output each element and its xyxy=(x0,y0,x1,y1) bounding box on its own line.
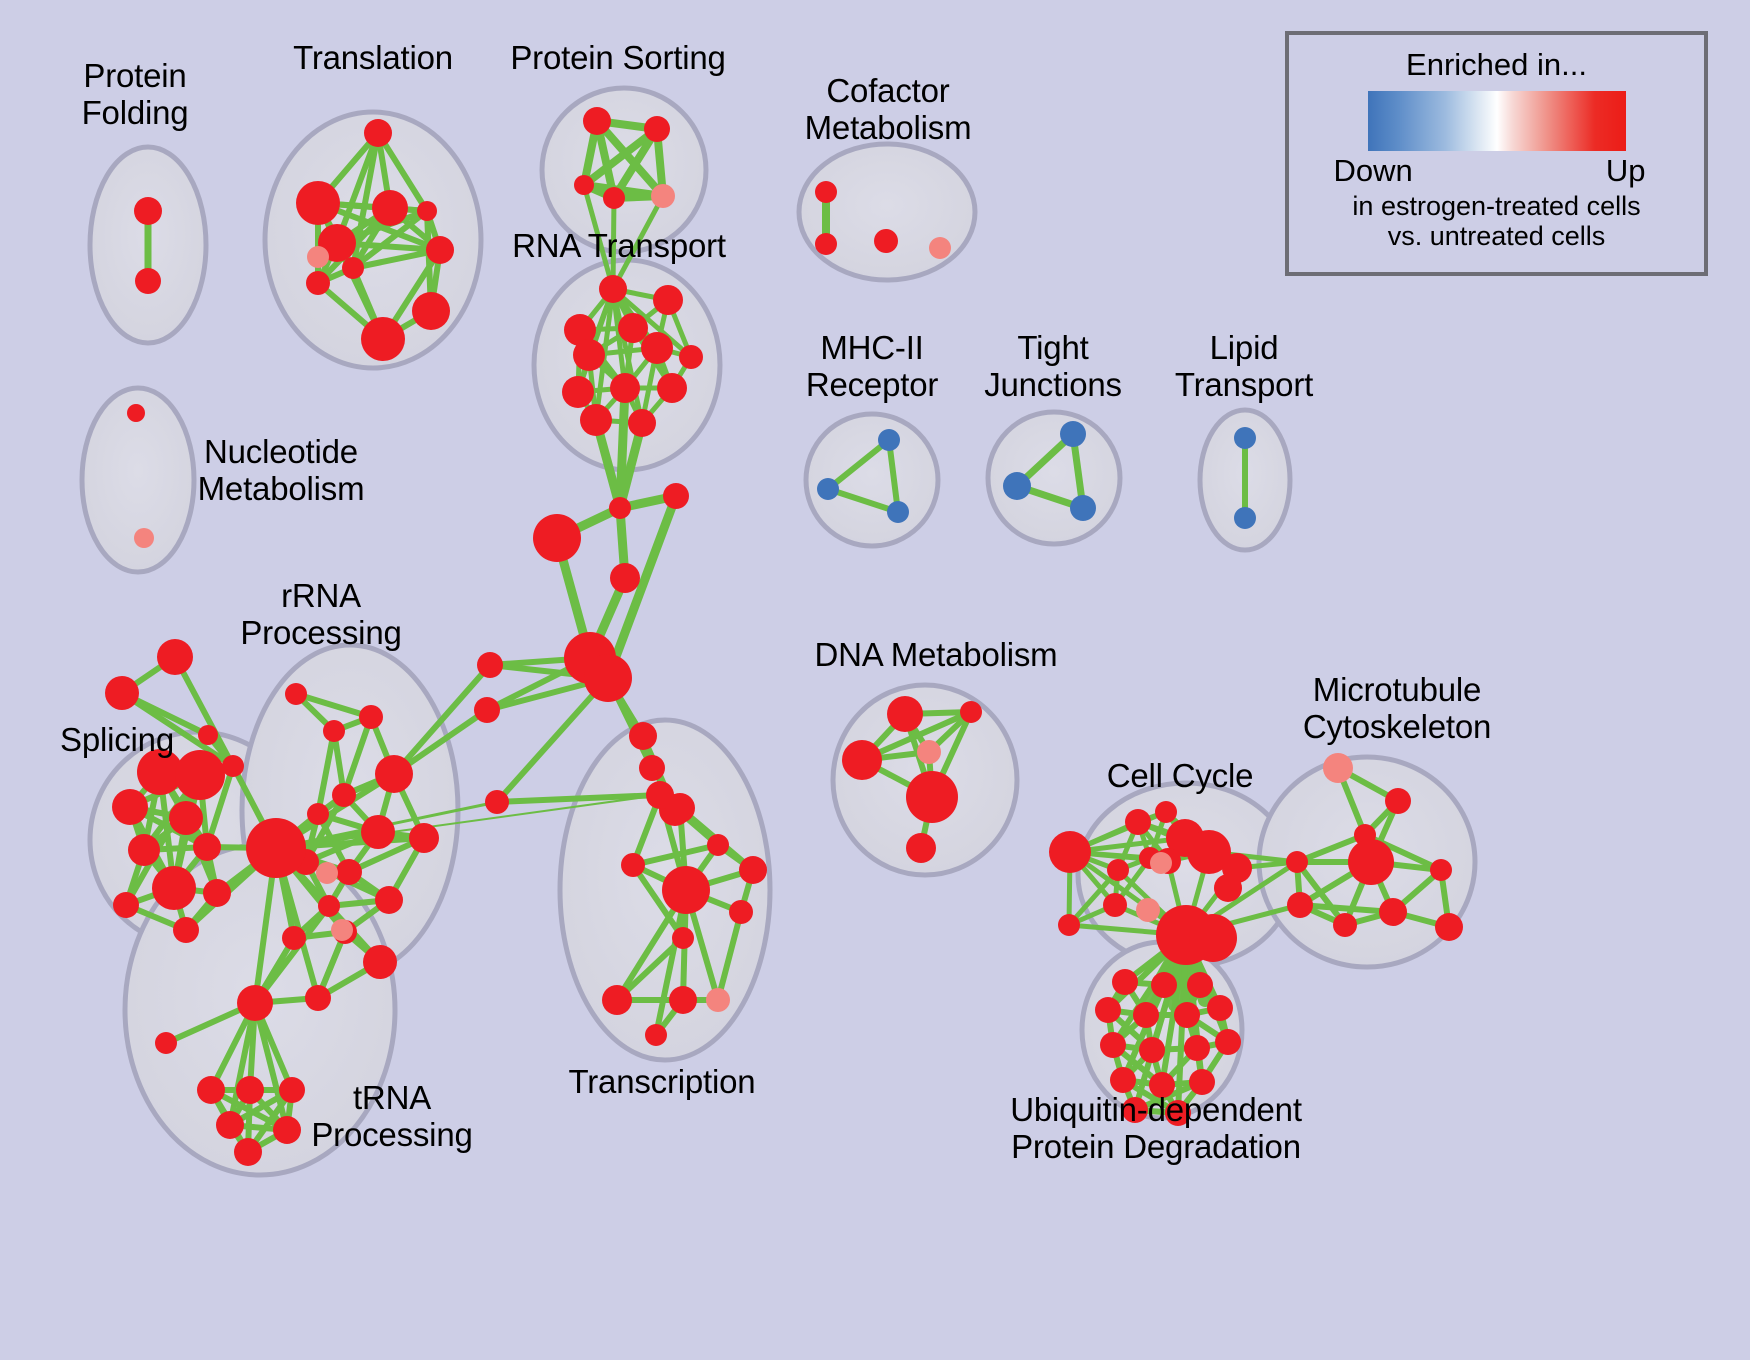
node xyxy=(641,332,673,364)
node xyxy=(112,789,148,825)
node xyxy=(639,755,665,781)
legend-title: Enriched in... xyxy=(1289,47,1704,83)
node xyxy=(285,683,307,705)
cluster-label-protein-sorting: Protein Sorting xyxy=(510,40,725,77)
node xyxy=(128,834,160,866)
node xyxy=(1112,969,1138,995)
legend-box: Enriched in... Down Up in estrogen-treat… xyxy=(1285,31,1708,276)
cluster-label-rna-transport: RNA Transport xyxy=(512,228,726,265)
node xyxy=(306,271,330,295)
node xyxy=(417,201,437,221)
node xyxy=(1103,893,1127,917)
node xyxy=(929,237,951,259)
legend-low-label: Down xyxy=(1334,153,1413,189)
node xyxy=(1058,914,1080,936)
legend-endpoints: Down Up xyxy=(1332,153,1662,193)
node xyxy=(342,257,364,279)
node xyxy=(646,781,674,809)
node xyxy=(584,654,632,702)
cluster-label-tight-junctions: Tight Junctions xyxy=(984,330,1122,404)
node xyxy=(610,563,640,593)
node xyxy=(155,1032,177,1054)
node xyxy=(644,116,670,142)
cluster-label-protein-folding: Protein Folding xyxy=(82,58,189,132)
node xyxy=(1234,427,1256,449)
node xyxy=(198,725,218,745)
node xyxy=(1430,859,1452,881)
node xyxy=(1435,913,1463,941)
node xyxy=(323,720,345,742)
node xyxy=(105,676,139,710)
node xyxy=(603,187,625,209)
node xyxy=(193,833,221,861)
node xyxy=(618,313,648,343)
legend-high-label: Up xyxy=(1606,153,1646,189)
node xyxy=(1333,913,1357,937)
node xyxy=(1215,1029,1241,1055)
node xyxy=(316,862,338,884)
node xyxy=(152,866,196,910)
node xyxy=(653,285,683,315)
node xyxy=(1136,898,1160,922)
node xyxy=(169,801,203,835)
node xyxy=(1125,809,1151,835)
node xyxy=(573,339,605,371)
node xyxy=(602,985,632,1015)
node xyxy=(282,926,306,950)
node xyxy=(878,429,900,451)
node xyxy=(1174,1002,1200,1028)
node xyxy=(361,317,405,361)
node xyxy=(874,229,898,253)
node xyxy=(960,701,982,723)
node xyxy=(887,696,923,732)
node xyxy=(1150,852,1172,874)
node xyxy=(1379,898,1407,926)
node xyxy=(657,373,687,403)
legend-caption-line1: in estrogen-treated cells xyxy=(1289,191,1704,223)
node xyxy=(305,985,331,1011)
node xyxy=(359,705,383,729)
node xyxy=(477,652,503,678)
node xyxy=(739,856,767,884)
cluster-label-splicing: Splicing xyxy=(60,722,174,759)
cluster-label-lipid-transport: Lipid Transport xyxy=(1175,330,1313,404)
node xyxy=(307,246,329,268)
node xyxy=(307,803,329,825)
node xyxy=(135,268,161,294)
node xyxy=(237,985,273,1021)
node xyxy=(318,895,340,917)
node xyxy=(1184,1035,1210,1061)
node xyxy=(412,292,450,330)
node xyxy=(1189,914,1237,962)
node xyxy=(610,373,640,403)
node xyxy=(628,409,656,437)
node xyxy=(1139,1037,1165,1063)
cluster-label-cell-cycle: Cell Cycle xyxy=(1107,758,1254,795)
node xyxy=(1107,859,1129,881)
node xyxy=(1100,1032,1126,1058)
cluster-label-rrna-processing: rRNA Processing xyxy=(240,578,401,652)
node xyxy=(246,818,306,878)
node xyxy=(1095,997,1121,1023)
cluster-label-cofactor-metabolism: Cofactor Metabolism xyxy=(805,73,972,147)
node xyxy=(375,755,413,793)
node xyxy=(706,988,730,1012)
node xyxy=(1234,507,1256,529)
node xyxy=(426,236,454,264)
node xyxy=(533,514,581,562)
node xyxy=(679,345,703,369)
node xyxy=(599,275,627,303)
node xyxy=(672,927,694,949)
cluster-label-microtubule-cytoskeleton: Microtubule Cytoskeleton xyxy=(1303,672,1491,746)
node xyxy=(583,107,611,135)
node xyxy=(113,892,139,918)
node xyxy=(157,639,193,675)
node xyxy=(1110,1067,1136,1093)
node xyxy=(372,190,408,226)
node xyxy=(562,376,594,408)
node xyxy=(815,233,837,255)
cluster-label-translation: Translation xyxy=(293,40,453,77)
node xyxy=(621,853,645,877)
node xyxy=(887,501,909,523)
node xyxy=(1214,874,1242,902)
network-figure: Protein Folding Translation Protein Sort… xyxy=(0,0,1750,1360)
node xyxy=(234,1138,262,1166)
node xyxy=(409,823,439,853)
node xyxy=(1133,1002,1159,1028)
node xyxy=(1323,753,1353,783)
node xyxy=(842,740,882,780)
node xyxy=(375,886,403,914)
node xyxy=(663,483,689,509)
node xyxy=(1207,995,1233,1021)
node xyxy=(729,900,753,924)
node xyxy=(216,1111,244,1139)
node xyxy=(815,181,837,203)
node xyxy=(332,783,356,807)
node xyxy=(173,917,199,943)
node xyxy=(279,1077,305,1103)
node xyxy=(817,478,839,500)
node xyxy=(651,184,675,208)
node xyxy=(203,879,231,907)
cluster-label-nucleotide-metabolism: Nucleotide Metabolism xyxy=(198,434,365,508)
node xyxy=(331,919,353,941)
node xyxy=(645,1024,667,1046)
node xyxy=(363,945,397,979)
node xyxy=(906,771,958,823)
node xyxy=(296,181,340,225)
node xyxy=(273,1116,301,1144)
node xyxy=(336,859,362,885)
node xyxy=(662,866,710,914)
node xyxy=(127,404,145,422)
legend-color-gradient-bar xyxy=(1368,91,1626,151)
node xyxy=(1003,472,1031,500)
node xyxy=(134,197,162,225)
cluster-label-trna-processing: tRNA Processing xyxy=(311,1080,472,1154)
node xyxy=(474,697,500,723)
node xyxy=(1151,972,1177,998)
node xyxy=(1286,851,1308,873)
node xyxy=(906,833,936,863)
node xyxy=(574,175,594,195)
cluster-label-dna-metabolism: DNA Metabolism xyxy=(815,637,1058,674)
node xyxy=(134,528,154,548)
node xyxy=(629,722,657,750)
node xyxy=(580,404,612,436)
node xyxy=(1187,972,1213,998)
node xyxy=(1070,495,1096,521)
node xyxy=(222,755,244,777)
node xyxy=(1049,831,1091,873)
node xyxy=(364,119,392,147)
cluster-label-transcription: Transcription xyxy=(569,1064,756,1101)
node xyxy=(707,834,729,856)
node xyxy=(669,986,697,1014)
node xyxy=(361,815,395,849)
node xyxy=(197,1076,225,1104)
node xyxy=(917,740,941,764)
node xyxy=(1155,801,1177,823)
node xyxy=(175,750,225,800)
node xyxy=(1287,892,1313,918)
node xyxy=(236,1076,264,1104)
node xyxy=(1348,839,1394,885)
cluster-label-ubiquitin-protein-degradation: Ubiquitin-dependent Protein Degradation xyxy=(1010,1092,1302,1166)
node xyxy=(485,790,509,814)
legend-caption-line2: vs. untreated cells xyxy=(1289,221,1704,253)
node xyxy=(1385,788,1411,814)
node xyxy=(609,497,631,519)
cluster-label-mhc-ii-receptor: MHC-II Receptor xyxy=(806,330,938,404)
node xyxy=(1060,421,1086,447)
